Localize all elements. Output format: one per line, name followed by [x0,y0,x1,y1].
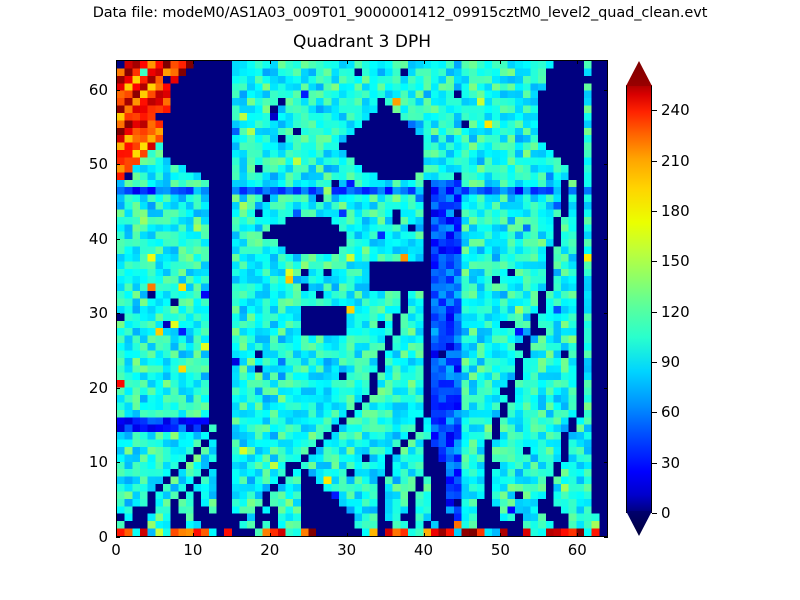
y-tick-mark [116,239,120,240]
colorbar-tick-label: 150 [661,252,690,270]
colorbar-axes[interactable] [626,85,652,513]
y-tick-label: 40 [60,230,108,248]
x-tick-mark [270,533,271,537]
x-tick-mark [347,533,348,537]
colorbar-tick-mark [652,161,657,162]
y-tick-mark [116,164,120,165]
heatmap-image[interactable] [117,61,607,536]
y-tick-mark-right [604,313,608,314]
y-tick-mark-right [604,164,608,165]
x-tick-mark-top [270,60,271,64]
y-tick-mark [116,537,120,538]
colorbar-tick-label: 30 [661,454,680,472]
colorbar-tick-mark [652,463,657,464]
y-tick-mark-right [604,239,608,240]
x-tick-label: 20 [260,541,279,559]
colorbar-tick-label: 0 [661,504,671,522]
colorbar-tick-mark [652,312,657,313]
x-tick-mark-top [116,60,117,64]
colorbar-tick-mark [652,261,657,262]
y-tick-label: 60 [60,81,108,99]
y-tick-mark [116,388,120,389]
colorbar-tick-label: 180 [661,202,690,220]
y-tick-label: 0 [60,528,108,546]
colorbar-tick-mark [652,110,657,111]
colorbar-tick-mark [652,211,657,212]
y-tick-label: 20 [60,379,108,397]
y-tick-mark-right [604,388,608,389]
x-tick-mark-top [424,60,425,64]
x-tick-label: 50 [491,541,510,559]
x-tick-mark [500,533,501,537]
colorbar-extend-bottom-arrow-icon [626,511,652,536]
x-tick-label: 40 [414,541,433,559]
page-title: Quadrant 3 DPH [116,32,608,52]
y-tick-label: 10 [60,453,108,471]
y-tick-mark-right [604,90,608,91]
x-tick-mark [424,533,425,537]
x-tick-mark [193,533,194,537]
datafile-label: Data file: modeM0/AS1A03_009T01_90000014… [0,5,800,21]
colorbar-extend-top-arrow-icon [626,61,652,86]
colorbar-tick-mark [652,513,657,514]
colorbar-tick-label: 210 [661,152,690,170]
colorbar-tick-label: 120 [661,303,690,321]
x-tick-mark [577,533,578,537]
colorbar-tick-label: 60 [661,403,680,421]
heatmap-axes[interactable] [116,60,608,537]
x-tick-mark-top [577,60,578,64]
colorbar-tick-mark [652,362,657,363]
y-tick-mark [116,462,120,463]
x-tick-label: 0 [111,541,121,559]
matplotlib-figure: Data file: modeM0/AS1A03_009T01_90000014… [0,0,800,600]
colorbar-tick-label: 90 [661,353,680,371]
colorbar-gradient [627,86,651,512]
y-tick-mark-right [604,462,608,463]
y-tick-mark [116,313,120,314]
y-tick-mark [116,90,120,91]
y-tick-label: 30 [60,304,108,322]
x-tick-label: 10 [183,541,202,559]
y-tick-label: 50 [60,155,108,173]
x-tick-label: 60 [568,541,587,559]
x-tick-mark-top [500,60,501,64]
x-tick-label: 30 [337,541,356,559]
x-tick-mark-top [347,60,348,64]
colorbar[interactable]: 0306090120150180210240 [626,60,718,537]
y-tick-mark-right [604,537,608,538]
colorbar-tick-mark [652,412,657,413]
colorbar-tick-label: 240 [661,101,690,119]
x-tick-mark-top [193,60,194,64]
